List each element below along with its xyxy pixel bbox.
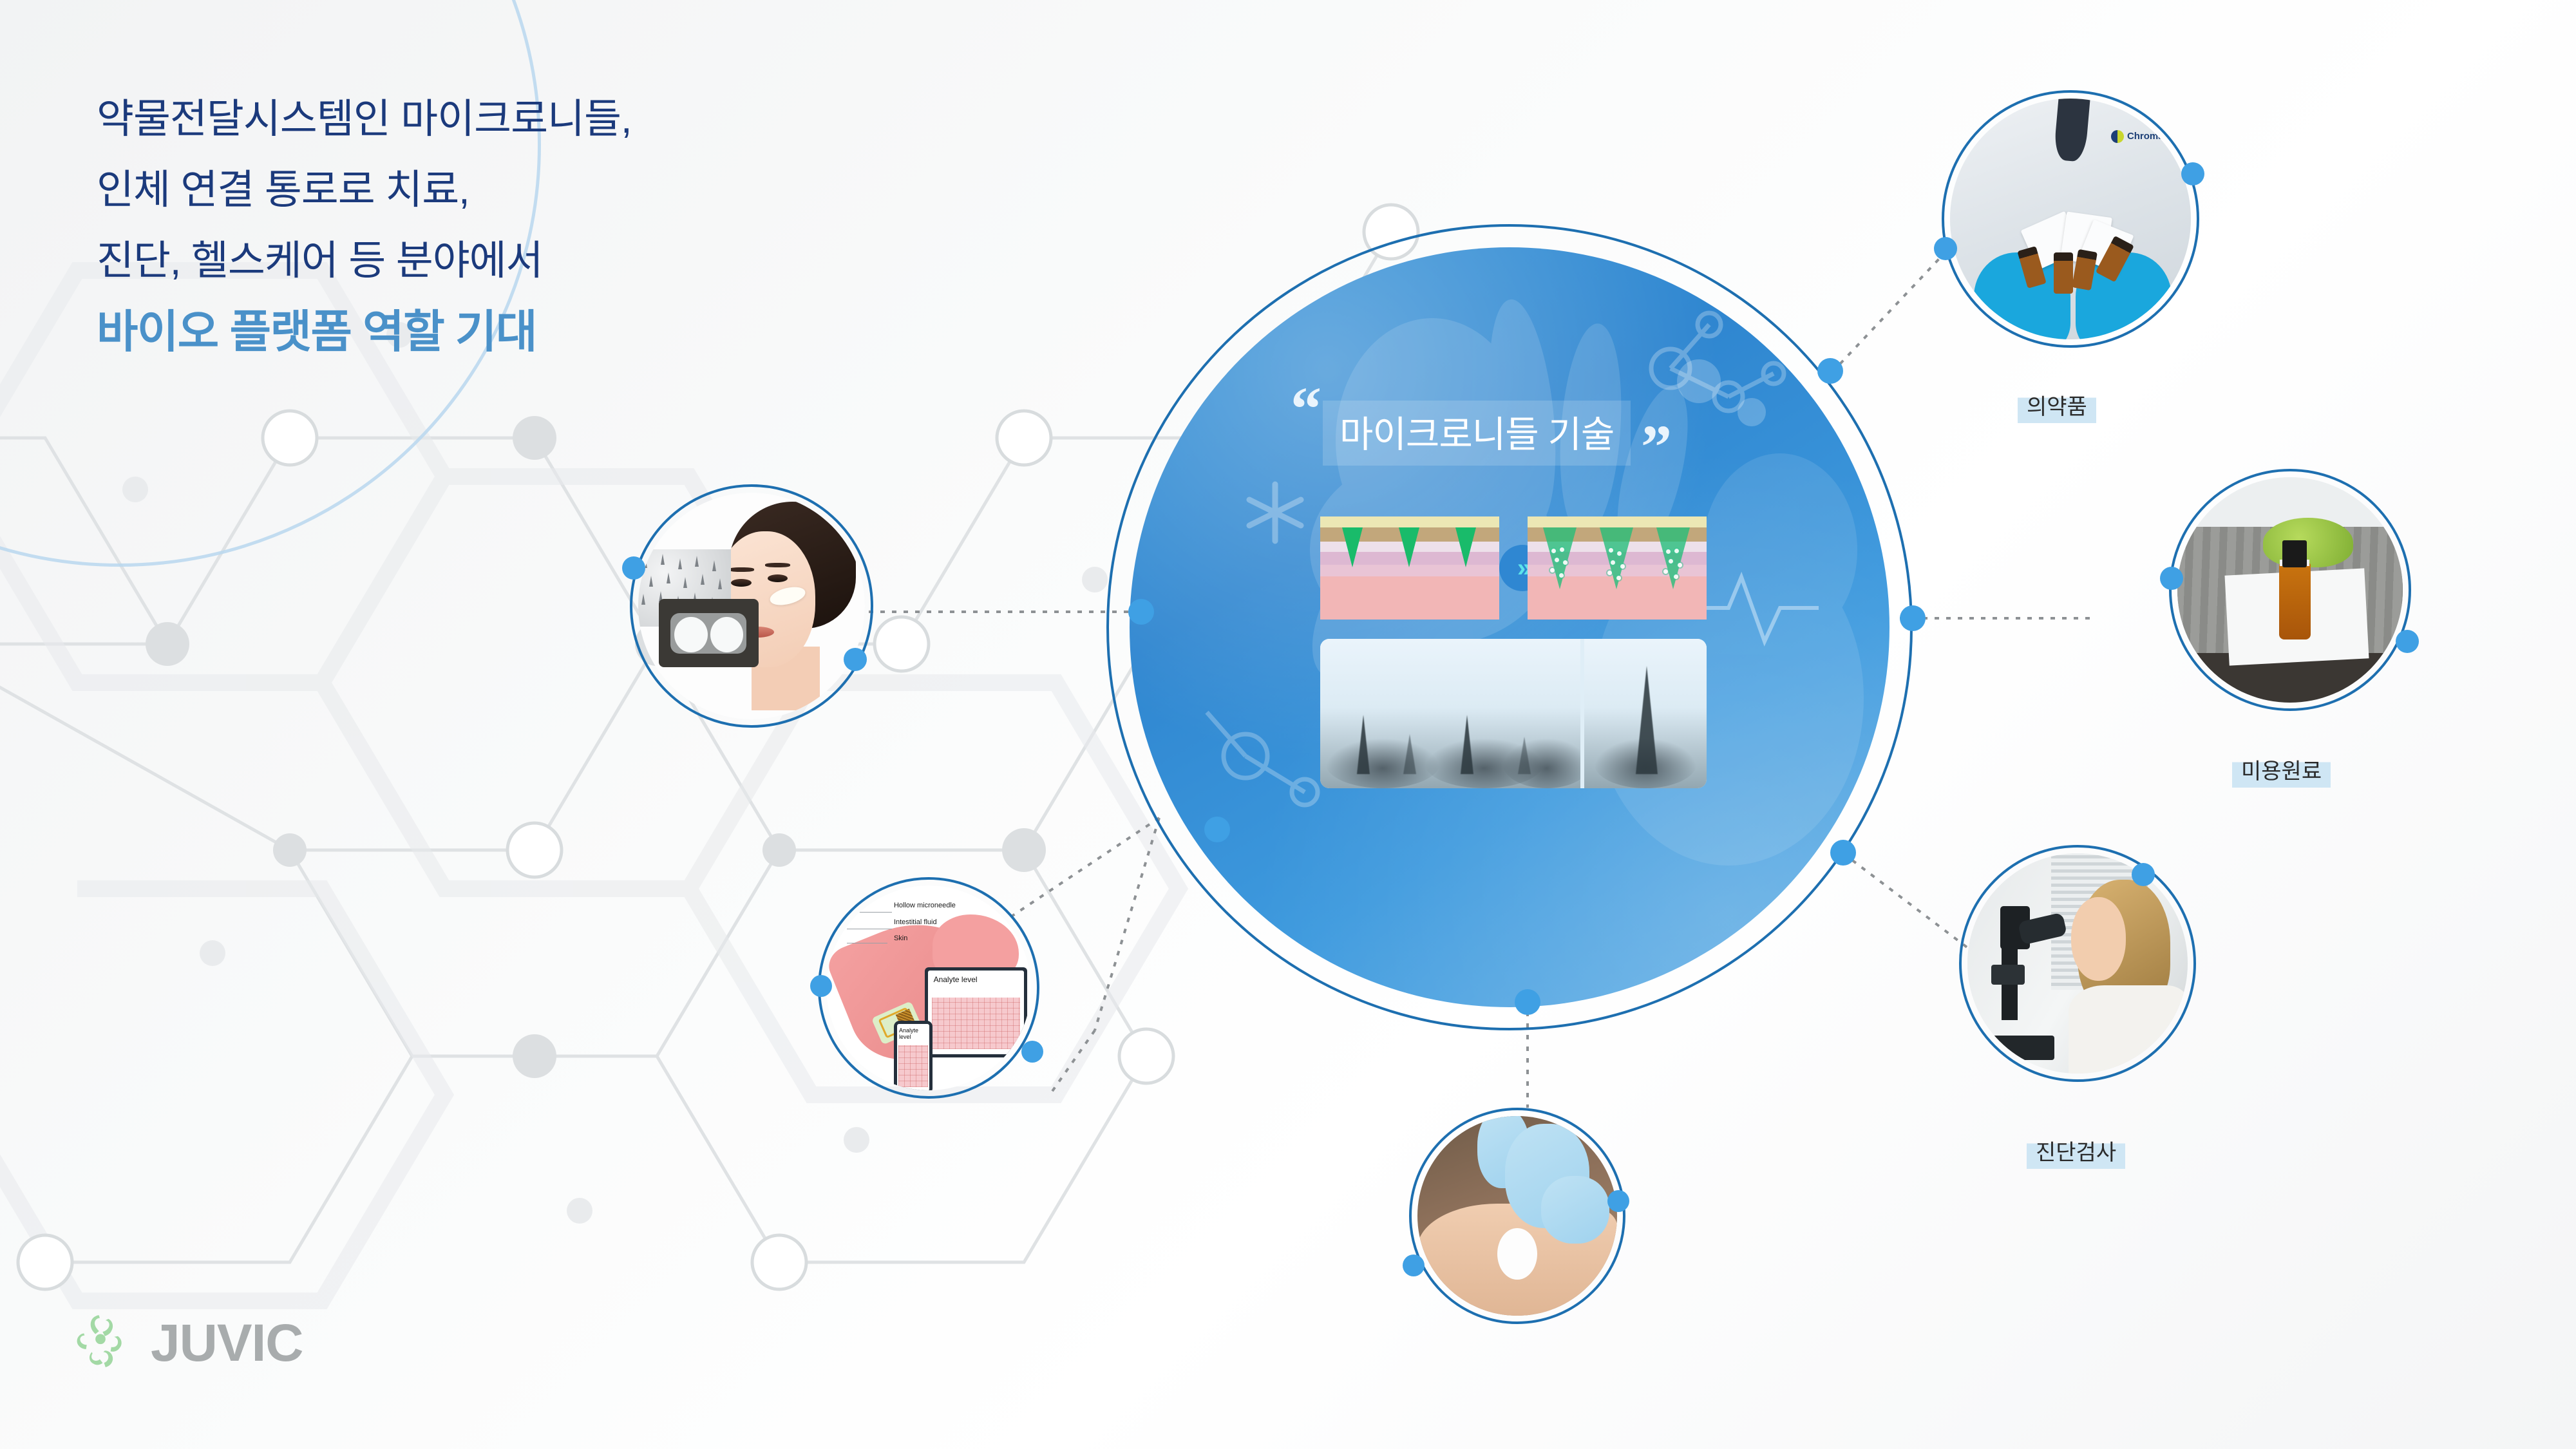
monitor-chart-title: Analyte level (934, 975, 978, 984)
satellite-node-top (2132, 863, 2155, 886)
phone-screen: Analyte level (894, 1021, 933, 1090)
satellite-node-right (1021, 1041, 1043, 1063)
satellite-diagnostic[interactable] (1959, 845, 2196, 1082)
hub-node-left (1128, 599, 1154, 625)
hub-node-lower-right (1830, 840, 1856, 866)
headline-line-3: 진단, 헬스케어 등 분야에서 (97, 225, 631, 296)
hub-blue-disc: “ 마이크로니들 기술 ” » (1130, 247, 1889, 1007)
satellite-cosmetic[interactable] (2169, 469, 2411, 711)
satellite-label-diagnostic: 진단검사 (2027, 1133, 2125, 1169)
microneedle-patch-package (659, 599, 759, 667)
juvic-logo: JUVIC (64, 1307, 303, 1379)
skin-before-panel (1320, 516, 1499, 620)
sem-array-image (1320, 639, 1580, 788)
hub-title: 마이크로니들 기술 (1323, 401, 1631, 466)
satellite-node-lower (1934, 237, 1957, 260)
satellite-label-cosmetic: 미용원료 (2232, 752, 2331, 788)
skin-crosssection-diagram: » (1320, 516, 1707, 620)
satellite-cosmetic-patch[interactable] (630, 484, 873, 728)
phone-chart-title: Analyte level (899, 1027, 929, 1040)
headline-line-1: 약물전달시스템인 마이크로니들, (97, 84, 631, 155)
sem-micrograph-panel (1320, 639, 1707, 788)
hub-node-top-right (1817, 358, 1843, 384)
hub-watermark-graphics (1130, 247, 1889, 1007)
sem-single-needle-image (1584, 639, 1707, 788)
hub-node-lower-left (1204, 817, 1230, 842)
satellite-node-upper (2181, 162, 2204, 185)
headline-line-4-accent: 바이오 플랫폼 역할 기대 (97, 296, 631, 367)
scientist-holding-vials-photo: Chromat (1950, 99, 2191, 339)
hub-node-right (1900, 605, 1926, 631)
quote-open-icon: “ (1291, 378, 1321, 440)
central-hub-circle: “ 마이크로니들 기술 ” » (1106, 224, 1913, 1030)
satellite-label-pharmaceutical: 의약품 (2018, 388, 2096, 423)
researcher-at-microscope-photo (1967, 853, 2188, 1074)
headline-line-2: 인체 연결 통로로 치료, (97, 155, 631, 225)
satellite-node-right (2396, 630, 2419, 653)
satellite-node-left (2160, 567, 2183, 590)
chromato-logo: Chromat (2111, 130, 2167, 143)
gloved-hand-applying-patch-photo (1417, 1116, 1617, 1316)
microneedle-biosensor-diagram: Hollow microneedle Intestitial fluid Ski… (826, 885, 1031, 1090)
monitor-screen: Analyte level (925, 967, 1027, 1057)
satellite-node-left (622, 556, 645, 580)
woman-with-microneedle-patch-photo (638, 493, 865, 719)
satellite-patch-skin[interactable] (1409, 1108, 1625, 1324)
label-interstitial-fluid: Intestitial fluid (894, 918, 937, 926)
label-skin: Skin (894, 934, 907, 942)
satellite-node-right (844, 648, 867, 671)
quote-close-icon: ” (1641, 416, 1672, 478)
satellite-node-left (1403, 1255, 1425, 1276)
satellite-node-left (810, 975, 832, 997)
hub-node-bottom (1515, 989, 1540, 1015)
juvic-flower-icon (64, 1307, 137, 1379)
skin-after-panel (1528, 516, 1707, 620)
page-title: 약물전달시스템인 마이크로니들, 인체 연결 통로로 치료, 진단, 헬스케어 … (97, 84, 631, 367)
satellite-node-right (1607, 1190, 1629, 1212)
satellite-pharmaceutical[interactable]: Chromat (1942, 90, 2199, 348)
satellite-biosensor[interactable]: Hollow microneedle Intestitial fluid Ski… (818, 877, 1039, 1099)
juvic-wordmark: JUVIC (151, 1313, 303, 1374)
label-hollow-microneedle: Hollow microneedle (894, 902, 956, 909)
serum-dropper-bottle-photo (2177, 477, 2403, 703)
